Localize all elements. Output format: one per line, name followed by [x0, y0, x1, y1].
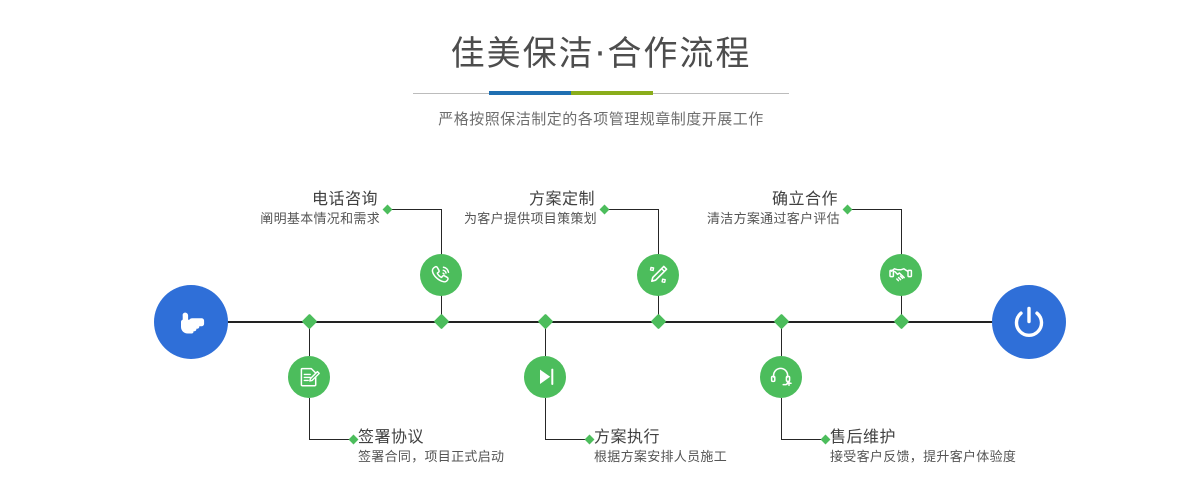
axis-marker-2 — [302, 314, 318, 330]
connector-horizontal-1 — [388, 209, 441, 210]
divider-blue-segment — [489, 91, 571, 95]
connector-horizontal-6 — [781, 439, 825, 440]
step-title-4: 方案执行 — [594, 426, 727, 448]
step-label-5: 确立合作 清洁方案通过客户评估 — [707, 188, 840, 230]
step-desc-3: 为客户提供项目策策划 — [464, 210, 597, 230]
connector-vertical-3-top — [658, 209, 659, 255]
step-title-1: 电话咨询 — [260, 188, 380, 210]
step-icon-3[interactable] — [637, 254, 679, 296]
axis-marker-1 — [434, 314, 450, 330]
step-label-6: 售后维护 接受客户反馈，提升客户体验度 — [830, 426, 1016, 468]
connector-horizontal-2 — [309, 439, 353, 440]
label-anchor-1 — [383, 205, 393, 215]
cooperation-flow-infographic: 佳美保洁·合作流程 严格按照保洁制定的各项管理规章制度开展工作 — [0, 0, 1202, 502]
handshake-icon — [888, 262, 914, 288]
power-icon — [1007, 300, 1051, 344]
page-subtitle: 严格按照保洁制定的各项管理规章制度开展工作 — [0, 108, 1202, 130]
timeline-axis — [155, 321, 1055, 323]
connector-vertical-2-bottom — [309, 398, 310, 440]
step-title-3: 方案定制 — [464, 188, 597, 210]
label-anchor-6 — [821, 435, 831, 445]
step-label-2: 签署协议 签署合同，项目正式启动 — [358, 426, 504, 468]
pointing-hand-icon — [171, 302, 211, 342]
step-icon-2[interactable] — [288, 356, 330, 398]
step-desc-2: 签署合同，项目正式启动 — [358, 448, 504, 468]
step-title-5: 确立合作 — [707, 188, 840, 210]
flow-end-node[interactable] — [992, 285, 1066, 359]
label-anchor-4 — [585, 435, 595, 445]
step-icon-1[interactable] — [420, 254, 462, 296]
step-icon-5[interactable] — [880, 254, 922, 296]
axis-marker-3 — [651, 314, 667, 330]
step-icon-6[interactable] — [760, 356, 802, 398]
connector-horizontal-5 — [848, 209, 901, 210]
step-label-4: 方案执行 根据方案安排人员施工 — [594, 426, 727, 468]
step-desc-5: 清洁方案通过客户评估 — [707, 210, 840, 230]
label-anchor-2 — [349, 435, 359, 445]
label-anchor-3 — [600, 205, 610, 215]
step-label-1: 电话咨询 阐明基本情况和需求 — [260, 188, 380, 230]
axis-marker-5 — [894, 314, 910, 330]
header: 佳美保洁·合作流程 严格按照保洁制定的各项管理规章制度开展工作 — [0, 32, 1202, 130]
step-desc-6: 接受客户反馈，提升客户体验度 — [830, 448, 1016, 468]
divider-green-segment — [571, 91, 653, 95]
step-desc-4: 根据方案安排人员施工 — [594, 448, 727, 468]
headset-support-icon — [768, 364, 794, 390]
phone-call-icon — [428, 262, 454, 288]
connector-vertical-5-top — [901, 209, 902, 255]
axis-marker-6 — [774, 314, 790, 330]
connector-vertical-4-bottom — [545, 398, 546, 440]
connector-vertical-1-top — [441, 209, 442, 255]
step-icon-4[interactable] — [524, 356, 566, 398]
label-anchor-5 — [843, 205, 853, 215]
connector-horizontal-4 — [545, 439, 589, 440]
page-title: 佳美保洁·合作流程 — [0, 32, 1202, 76]
document-pen-icon — [296, 364, 322, 390]
step-title-2: 签署协议 — [358, 426, 504, 448]
timeline: 电话咨询 阐明基本情况和需求 签署协议 签署合同，项目正式启动 — [0, 160, 1202, 500]
step-label-3: 方案定制 为客户提供项目策策划 — [464, 188, 597, 230]
step-title-6: 售后维护 — [830, 426, 1016, 448]
axis-marker-4 — [538, 314, 554, 330]
play-execute-icon — [532, 364, 558, 390]
flow-start-node[interactable] — [154, 285, 228, 359]
pencil-design-icon — [645, 262, 671, 288]
connector-vertical-6-bottom — [781, 398, 782, 440]
title-divider — [413, 89, 789, 99]
step-desc-1: 阐明基本情况和需求 — [260, 210, 380, 230]
connector-horizontal-3 — [605, 209, 658, 210]
